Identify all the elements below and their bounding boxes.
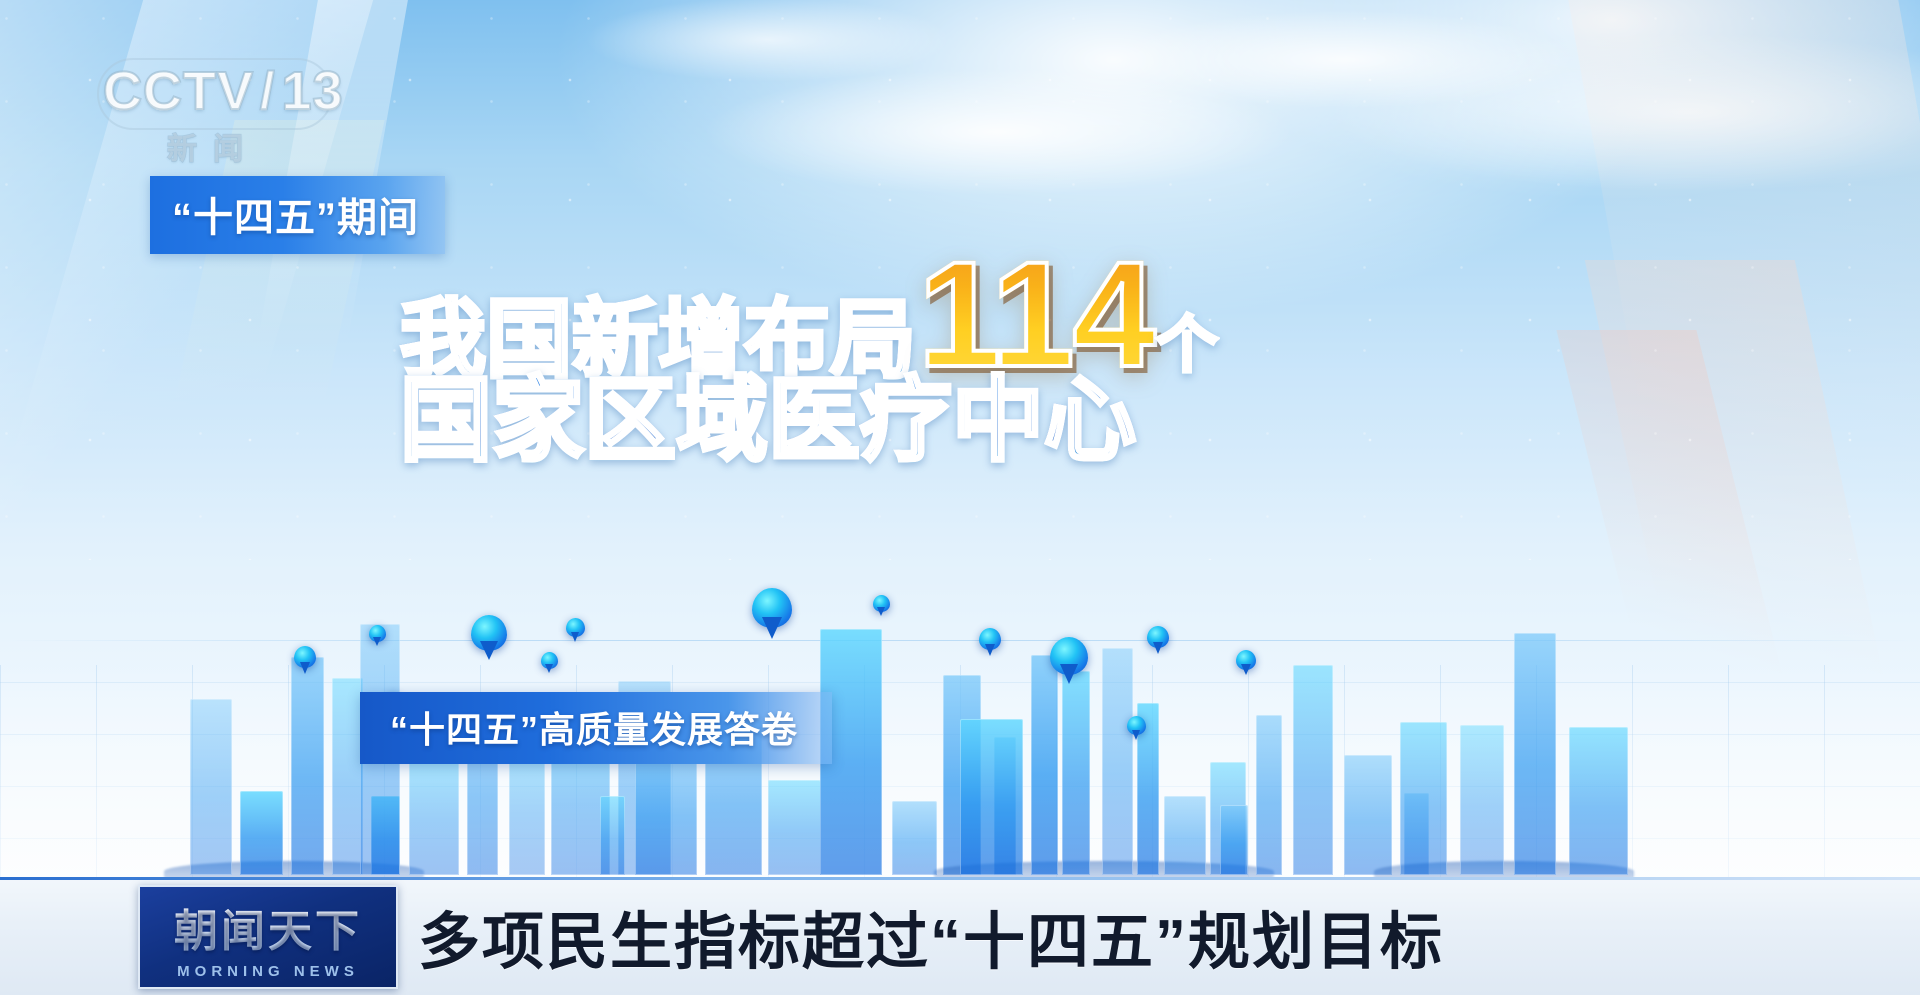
program-name-cn: 朝闻天下 <box>174 895 362 959</box>
broadcast-frame: CCTV / 13 新闻 “十四五”期间 我国新增布局 114 个 国家区域医疗… <box>0 0 1920 995</box>
news-ticker-bar: 朝闻天下 MORNING NEWS 多项民生指标超过“十四五”规划目标 <box>0 877 1920 995</box>
building <box>1569 727 1628 875</box>
map-pin-icon <box>566 618 585 637</box>
building <box>1460 725 1504 875</box>
cctv-logo-text: CCTV <box>103 64 254 118</box>
cityscape-illustration <box>0 535 1920 875</box>
period-tag-label: “十四五”期间 <box>172 196 419 240</box>
map-pin-icon <box>471 615 507 651</box>
cctv-logo-slash: / <box>260 65 275 117</box>
headline-subject: 国家区域医疗中心 <box>400 375 1136 467</box>
cctv-logo-mark: CCTV / 13 <box>103 64 333 118</box>
map-pin-icon <box>1050 637 1088 675</box>
news-headline: 多项民生指标超过“十四五”规划目标 <box>418 891 1444 981</box>
period-tag-banner: “十四五”期间 <box>150 176 445 254</box>
program-name-en: MORNING NEWS <box>177 963 359 980</box>
building <box>332 678 363 875</box>
map-pin-icon <box>294 646 316 668</box>
headline-line-2: 国家区域医疗中心 <box>400 375 1530 467</box>
map-pin-icon <box>1236 650 1256 670</box>
building <box>1102 648 1133 875</box>
building <box>892 801 937 875</box>
building <box>190 699 232 875</box>
headline-line-1: 我国新增布局 114 个 <box>400 250 1530 383</box>
program-badge: 朝闻天下 MORNING NEWS <box>138 885 398 989</box>
building <box>600 796 625 875</box>
building <box>1293 665 1333 875</box>
building <box>1256 715 1282 875</box>
cctv-logo: CCTV / 13 新闻 <box>103 64 333 174</box>
building <box>768 780 821 875</box>
map-pin-icon <box>979 628 1001 650</box>
building <box>1220 805 1248 875</box>
news-bar-topline <box>0 877 1920 880</box>
map-pin-icon <box>752 588 792 628</box>
building <box>1514 633 1556 875</box>
headline-number: 114 <box>918 250 1154 379</box>
building <box>1344 755 1392 875</box>
map-pin-icon <box>1147 626 1169 648</box>
building <box>1062 671 1090 875</box>
building <box>1031 655 1058 875</box>
building <box>1164 796 1206 875</box>
building <box>240 791 283 875</box>
building <box>960 719 1023 875</box>
sub-banner-label: “十四五”高质量发展答卷 <box>390 709 798 750</box>
sub-banner: “十四五”高质量发展答卷 <box>360 692 832 764</box>
map-pin-icon <box>541 652 558 669</box>
map-pin-icon <box>873 595 890 612</box>
cctv-logo-number: 13 <box>281 64 343 118</box>
building <box>409 752 459 875</box>
cctv-logo-subtitle: 新闻 <box>103 124 323 168</box>
map-pin-icon <box>1127 716 1146 735</box>
map-pin-icon <box>369 625 386 642</box>
headline-block: 我国新增布局 114 个 国家区域医疗中心 <box>400 250 1530 467</box>
building <box>291 657 324 875</box>
building <box>1400 722 1447 875</box>
headline-unit: 个 <box>1156 315 1218 377</box>
